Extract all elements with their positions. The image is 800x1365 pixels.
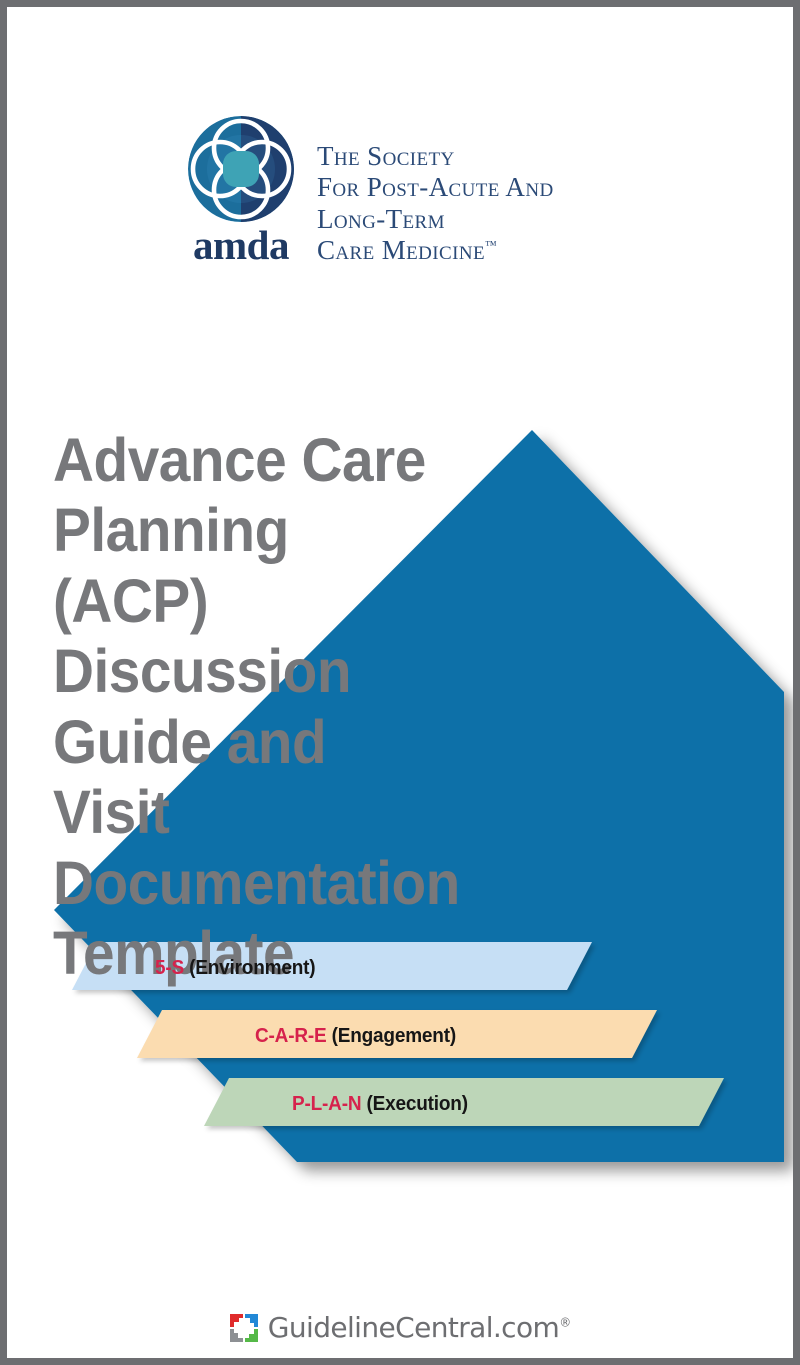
band-label-execution: P-L-A-N (Execution) bbox=[292, 1093, 468, 1116]
title-line-4: Guide and Visit bbox=[53, 707, 453, 848]
band-parenthetical-2: (Engagement) bbox=[332, 1025, 456, 1047]
society-line-3: Long-Term bbox=[317, 204, 554, 235]
society-line-4: Care Medicine™ bbox=[317, 235, 554, 266]
society-name: The Society For Post-Acute And Long-Term… bbox=[317, 141, 554, 266]
band-acronym-2: C-A-R-E bbox=[255, 1025, 327, 1047]
title-line-1: Advance Care bbox=[53, 425, 453, 495]
society-line-1: The Society bbox=[317, 141, 554, 172]
guideline-central-wordmark: GuidelineCentral.com® bbox=[268, 1314, 571, 1342]
society-line-4-text: Care Medicine bbox=[317, 235, 485, 265]
band-label-engagement: C-A-R-E (Engagement) bbox=[255, 1025, 456, 1048]
band-acronym-1: 5-S bbox=[155, 957, 184, 979]
band-parenthetical-1: (Environment) bbox=[189, 957, 315, 979]
brand-name: GuidelineCentral.com bbox=[268, 1311, 559, 1344]
title-line-5: Documentation bbox=[53, 848, 453, 918]
trademark-symbol: ™ bbox=[485, 238, 497, 252]
document-page: amda The Society For Post-Acute And Long… bbox=[0, 0, 800, 1365]
amda-masthead: amda The Society For Post-Acute And Long… bbox=[187, 115, 554, 266]
page-title: Advance Care Planning (ACP) Discussion G… bbox=[53, 425, 453, 989]
registered-symbol: ® bbox=[559, 1316, 571, 1330]
amda-logo: amda bbox=[187, 115, 295, 266]
amda-wordmark: amda bbox=[193, 225, 289, 266]
title-line-3: Discussion bbox=[53, 636, 453, 706]
guideline-central-square-icon bbox=[229, 1313, 259, 1343]
band-acronym-3: P-L-A-N bbox=[292, 1093, 361, 1115]
footer-branding: GuidelineCentral.com® bbox=[7, 1313, 793, 1343]
band-label-environment: 5-S (Environment) bbox=[155, 957, 315, 980]
page-canvas: amda The Society For Post-Acute And Long… bbox=[7, 7, 793, 1358]
title-line-2: Planning (ACP) bbox=[53, 495, 453, 636]
amda-four-petal-circle-icon bbox=[187, 115, 295, 223]
band-parenthetical-3: (Execution) bbox=[366, 1093, 467, 1115]
society-line-2: For Post-Acute And bbox=[317, 172, 554, 203]
